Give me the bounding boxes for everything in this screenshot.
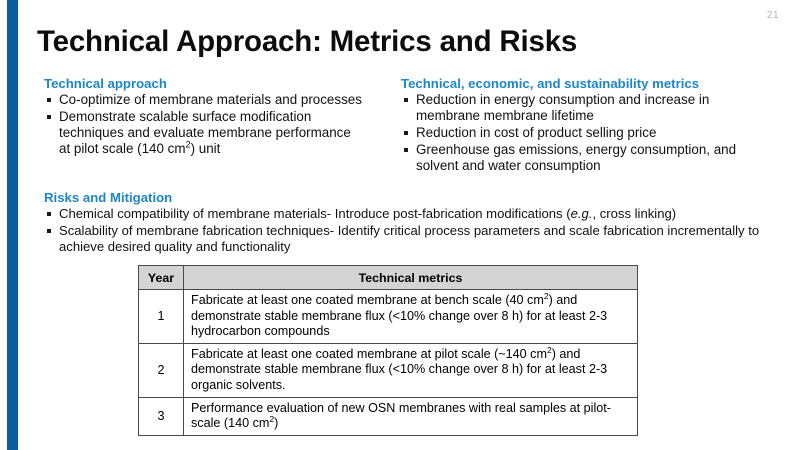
cell-metric: Performance evaluation of new OSN membra… — [184, 397, 638, 435]
list-item: Demonstrate scalable surface modificatio… — [44, 109, 362, 158]
technical-approach-section: Technical approach Co-optimize of membra… — [44, 76, 362, 158]
risks-section: Risks and Mitigation Chemical compatibil… — [44, 190, 784, 256]
metrics-bullet-list: Reduction in energy consumption and incr… — [401, 92, 771, 174]
list-item: Chemical compatibility of membrane mater… — [44, 206, 784, 222]
metrics-section: Technical, economic, and sustainability … — [401, 76, 771, 175]
column-header-technical-metrics: Technical metrics — [184, 266, 638, 290]
cell-year: 3 — [139, 397, 184, 435]
technical-metrics-table: Year Technical metrics 1 Fabricate at le… — [138, 265, 638, 436]
cell-metric: Fabricate at least one coated membrane a… — [184, 343, 638, 397]
page-title: Technical Approach: Metrics and Risks — [37, 25, 577, 59]
risks-bullet-list: Chemical compatibility of membrane mater… — [44, 206, 784, 256]
risks-heading: Risks and Mitigation — [44, 190, 784, 205]
left-accent-bar — [7, 0, 18, 450]
list-item: Scalability of membrane fabrication tech… — [44, 223, 784, 256]
cell-metric: Fabricate at least one coated membrane a… — [184, 290, 638, 344]
metrics-heading: Technical, economic, and sustainability … — [401, 76, 771, 91]
table-row: 2 Fabricate at least one coated membrane… — [139, 343, 638, 397]
column-header-year: Year — [139, 266, 184, 290]
technical-approach-heading: Technical approach — [44, 76, 362, 91]
slide: 21 Technical Approach: Metrics and Risks… — [0, 0, 800, 450]
cell-year: 2 — [139, 343, 184, 397]
table-row: 1 Fabricate at least one coated membrane… — [139, 290, 638, 344]
list-item: Reduction in energy consumption and incr… — [401, 92, 771, 124]
list-item: Greenhouse gas emissions, energy consump… — [401, 142, 771, 174]
cell-year: 1 — [139, 290, 184, 344]
list-item: Reduction in cost of product selling pri… — [401, 125, 771, 141]
technical-approach-bullet-list: Co-optimize of membrane materials and pr… — [44, 92, 362, 157]
slide-number: 21 — [767, 9, 779, 21]
table-header-row: Year Technical metrics — [139, 266, 638, 290]
table-row: 3 Performance evaluation of new OSN memb… — [139, 397, 638, 435]
list-item: Co-optimize of membrane materials and pr… — [44, 92, 362, 108]
